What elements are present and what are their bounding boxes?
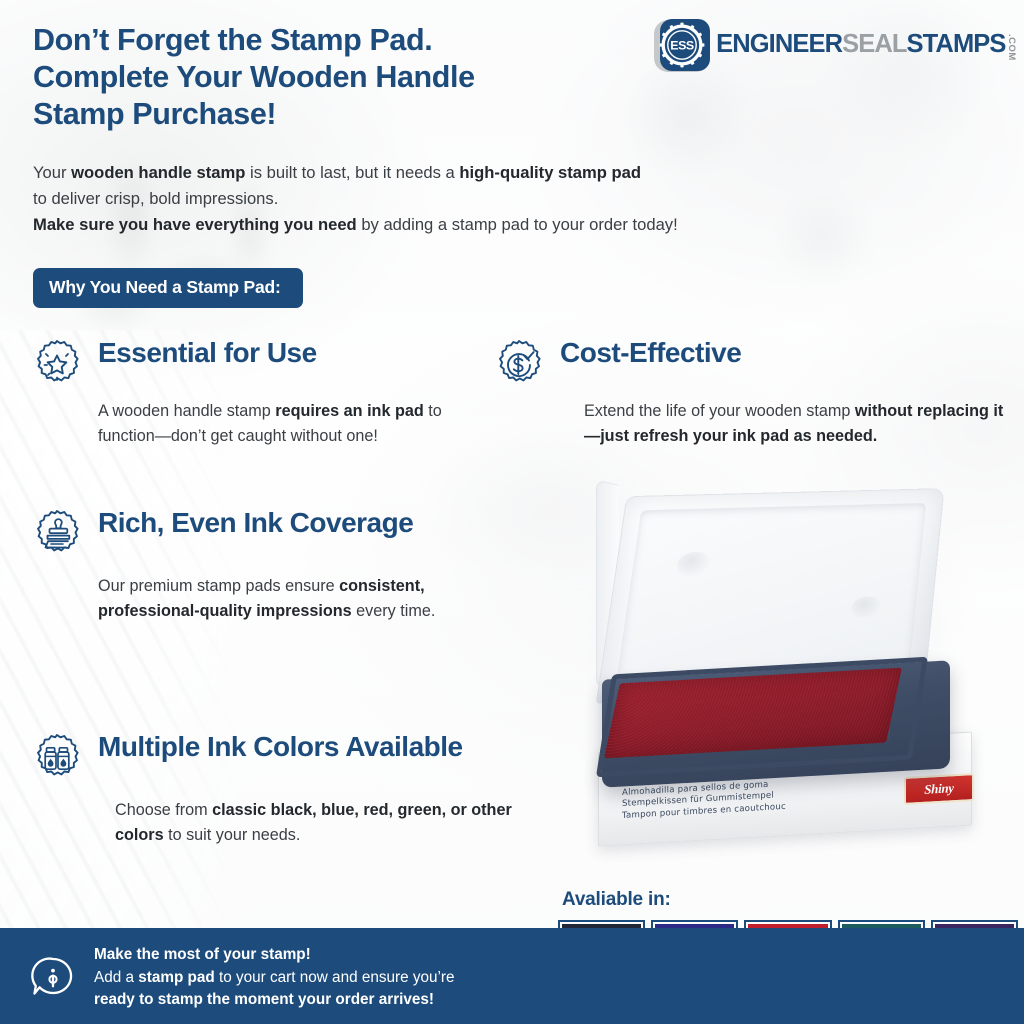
feature-body: Extend the life of your wooden stamp wit… bbox=[584, 399, 1004, 448]
intro-text: Your bbox=[33, 163, 71, 182]
feature-body-text: Choose from bbox=[115, 801, 212, 819]
page-title: Don’t Forget the Stamp Pad. Complete You… bbox=[33, 22, 643, 133]
headline-line-1: Don’t Forget the Stamp Pad. bbox=[33, 22, 643, 59]
shiny-brand-text: Shiny bbox=[924, 780, 954, 798]
intro-paragraph: Your wooden handle stamp is built to las… bbox=[33, 160, 913, 238]
feature-rich-even-ink-coverage: Rich, Even Ink Coverage Our premium stam… bbox=[30, 506, 500, 623]
info-bubble-icon bbox=[30, 955, 76, 1001]
headline-line-3: Stamp Purchase! bbox=[33, 96, 643, 133]
feature-cost-effective: Cost-Effective Extend the life of your w… bbox=[492, 336, 1012, 448]
feature-body-text: A wooden handle stamp bbox=[98, 402, 275, 420]
intro-text: by adding a stamp pad to your order toda… bbox=[357, 215, 678, 234]
feature-body: Our premium stamp pads ensure consistent… bbox=[98, 574, 478, 623]
intro-line-2: to deliver crisp, bold impressions. bbox=[33, 186, 913, 212]
brand-logo[interactable]: ESS bbox=[654, 18, 1016, 74]
feature-body-strong: requires an ink pad bbox=[275, 402, 423, 420]
footer-text-strong: ready to stamp the moment your order arr… bbox=[94, 991, 434, 1008]
feature-body: A wooden handle stamp requires an ink pa… bbox=[98, 399, 498, 448]
badge-star-icon bbox=[30, 338, 84, 392]
badge-dollar-check-icon bbox=[492, 338, 546, 392]
logo-word-engineer: ENGINEER bbox=[716, 32, 842, 58]
feature-body-text: Our premium stamp pads ensure bbox=[98, 577, 339, 595]
intro-line-3: Make sure you have everything you need b… bbox=[33, 212, 913, 238]
intro-strong: Make sure you have everything you need bbox=[33, 215, 357, 234]
footer-line-2: Add a stamp pad to your cart now and ens… bbox=[94, 967, 455, 990]
feature-essential-for-use: Essential for Use A wooden handle stamp … bbox=[30, 336, 500, 448]
headline-line-2: Complete Your Wooden Handle bbox=[33, 59, 643, 96]
feature-title: Multiple Ink Colors Available bbox=[98, 730, 463, 763]
intro-strong: high-quality stamp pad bbox=[459, 163, 641, 182]
logo-wordmark: ENGINEERSEALSTAMPS .COM bbox=[716, 32, 1016, 61]
feature-title: Rich, Even Ink Coverage bbox=[98, 506, 413, 539]
footer-text-strong: stamp pad bbox=[138, 969, 215, 986]
badge-ink-bottles-icon bbox=[30, 732, 84, 786]
intro-line-1: Your wooden handle stamp is built to las… bbox=[33, 160, 913, 186]
footer-text: Make the most of your stamp! Add a stamp… bbox=[94, 944, 455, 1012]
badge-rubber-stamp-icon bbox=[30, 508, 84, 562]
infographic-page: Don’t Forget the Stamp Pad. Complete You… bbox=[0, 0, 1024, 1024]
footer-text-span: Add a bbox=[94, 969, 138, 986]
section-pill-why-you-need: Why You Need a Stamp Pad: bbox=[33, 268, 303, 308]
footer-line-1: Make the most of your stamp! bbox=[94, 944, 455, 967]
logo-word-stamps: STAMPS bbox=[907, 32, 1006, 58]
product-photo-stamp-pad: Stamp pad for rubber stamps Almohadilla … bbox=[556, 470, 1016, 890]
footer-line-3: ready to stamp the moment your order arr… bbox=[94, 989, 455, 1012]
footer-text-span: to your cart now and ensure you’re bbox=[215, 969, 455, 986]
footer-cta-bar: Make the most of your stamp! Add a stamp… bbox=[0, 928, 1024, 1024]
feature-body-text: every time. bbox=[352, 602, 436, 620]
intro-strong: wooden handle stamp bbox=[71, 163, 245, 182]
intro-text: is built to last, but it needs a bbox=[245, 163, 459, 182]
feature-body-text: Extend the life of your wooden stamp bbox=[584, 402, 855, 420]
feature-title: Essential for Use bbox=[98, 336, 317, 369]
feature-title: Cost-Effective bbox=[560, 336, 741, 369]
feature-multiple-ink-colors: Multiple Ink Colors Available Choose fro… bbox=[30, 730, 530, 847]
logo-word-seal: SEAL bbox=[842, 32, 906, 58]
shiny-brand-logo: Shiny bbox=[904, 773, 974, 805]
svg-text:ESS: ESS bbox=[670, 39, 694, 53]
ess-gear-badge-icon: ESS bbox=[654, 18, 710, 74]
logo-word-tld: .COM bbox=[1007, 34, 1017, 61]
available-in-title: Avaliable in: bbox=[562, 889, 671, 911]
feature-body: Choose from classic black, blue, red, gr… bbox=[115, 798, 530, 847]
feature-body-text: to suit your needs. bbox=[164, 826, 301, 844]
